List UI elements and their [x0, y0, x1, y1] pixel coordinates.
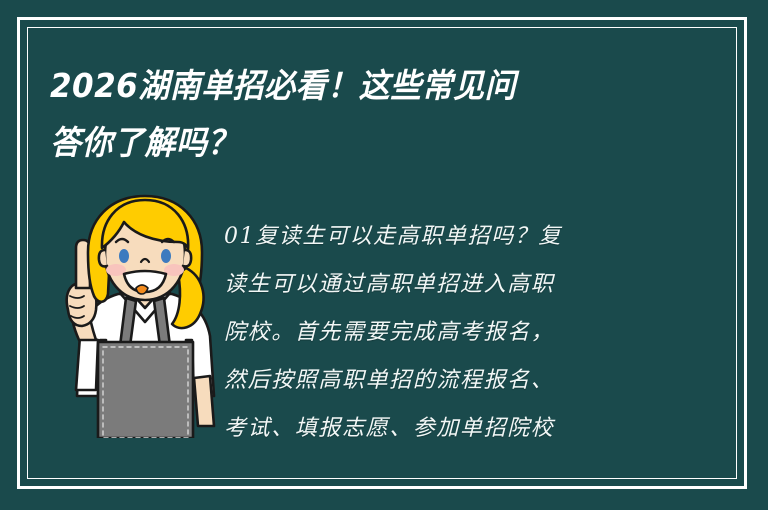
apron — [98, 342, 193, 438]
right-hand — [194, 376, 214, 426]
poster-canvas: 2026湖南单招必看！这些常见问 答你了解吗？ 01复读生可以走高职单招吗？复 … — [0, 0, 768, 510]
headline-block: 2026湖南单招必看！这些常见问 答你了解吗？ — [50, 57, 670, 171]
cartoon-girl-illustration — [58, 190, 233, 438]
tongue — [136, 285, 148, 294]
eye-right — [161, 249, 171, 263]
body-line-3: 院校。首先需要完成高考报名， — [224, 309, 649, 357]
body-line-5: 考试、填报志愿、参加单招院校 — [224, 405, 649, 453]
body-line-2: 读生可以通过高职单招进入高职 — [224, 261, 649, 309]
left-sleeve — [76, 336, 98, 390]
body-copy-block: 01复读生可以走高职单招吗？复 读生可以通过高职单招进入高职 院校。首先需要完成… — [224, 213, 649, 453]
body-line-4: 然后按照高职单招的流程报名、 — [224, 357, 649, 405]
eye-left — [119, 249, 129, 263]
headline-line-2: 答你了解吗？ — [50, 114, 633, 171]
cartoon-girl-svg — [58, 190, 233, 438]
headline-line-1: 2026湖南单招必看！这些常见问 — [50, 57, 633, 114]
body-line-1: 01复读生可以走高职单招吗？复 — [224, 213, 649, 261]
